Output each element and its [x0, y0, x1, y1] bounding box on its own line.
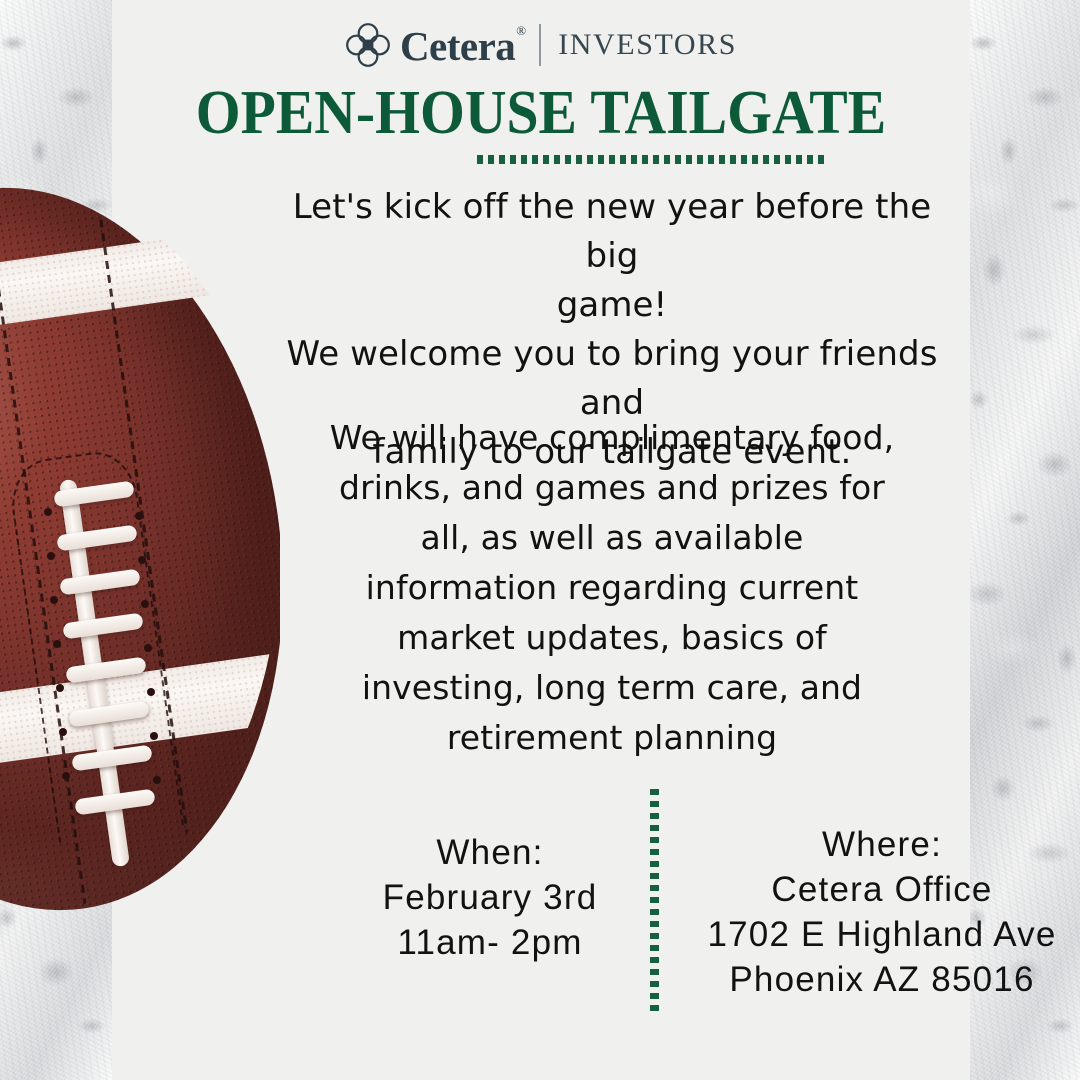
details-line: drinks, and games and prizes for — [312, 463, 912, 513]
brand-logo: Cetera ® INVESTORS — [112, 22, 970, 68]
content-card: Cetera ® INVESTORS OPEN-HOUSE TAILGATE L… — [112, 0, 970, 1080]
where-label: Where: — [672, 822, 1080, 867]
when-block: When: February 3rd 11am- 2pm — [340, 830, 640, 965]
headline-dotted-divider — [477, 155, 829, 164]
details-line: We will have complimentary food, — [312, 413, 912, 463]
registered-trademark-icon: ® — [516, 23, 526, 39]
cetera-wordmark: Cetera — [400, 26, 515, 67]
when-time: 11am- 2pm — [340, 920, 640, 965]
page-title: OPEN-HOUSE TAILGATE — [142, 82, 940, 144]
where-block: Where: Cetera Office 1702 E Highland Ave… — [672, 822, 1080, 1002]
details-dotted-divider — [650, 789, 659, 1017]
where-street: 1702 E Highland Ave — [672, 912, 1080, 957]
intro-line: Let's kick off the new year before the b… — [262, 183, 962, 281]
details-line: investing, long term care, and — [312, 663, 912, 713]
cetera-quatrefoil-mark-icon — [345, 22, 391, 68]
where-venue: Cetera Office — [672, 867, 1080, 912]
when-date: February 3rd — [340, 875, 640, 920]
when-label: When: — [340, 830, 640, 875]
details-paragraph: We will have complimentary food, drinks,… — [312, 413, 912, 763]
details-line: retirement planning — [312, 713, 912, 763]
intro-line: game! — [262, 281, 962, 330]
investors-subbrand: INVESTORS — [558, 28, 737, 62]
details-line: information regarding current — [312, 563, 912, 613]
where-city-state-zip: Phoenix AZ 85016 — [672, 957, 1080, 1002]
details-line: market updates, basics of — [312, 613, 912, 663]
details-line: all, as well as available — [312, 513, 912, 563]
left-texture-margin — [0, 0, 112, 1080]
poster: Cetera ® INVESTORS OPEN-HOUSE TAILGATE L… — [0, 0, 1080, 1080]
logo-divider — [539, 24, 541, 66]
